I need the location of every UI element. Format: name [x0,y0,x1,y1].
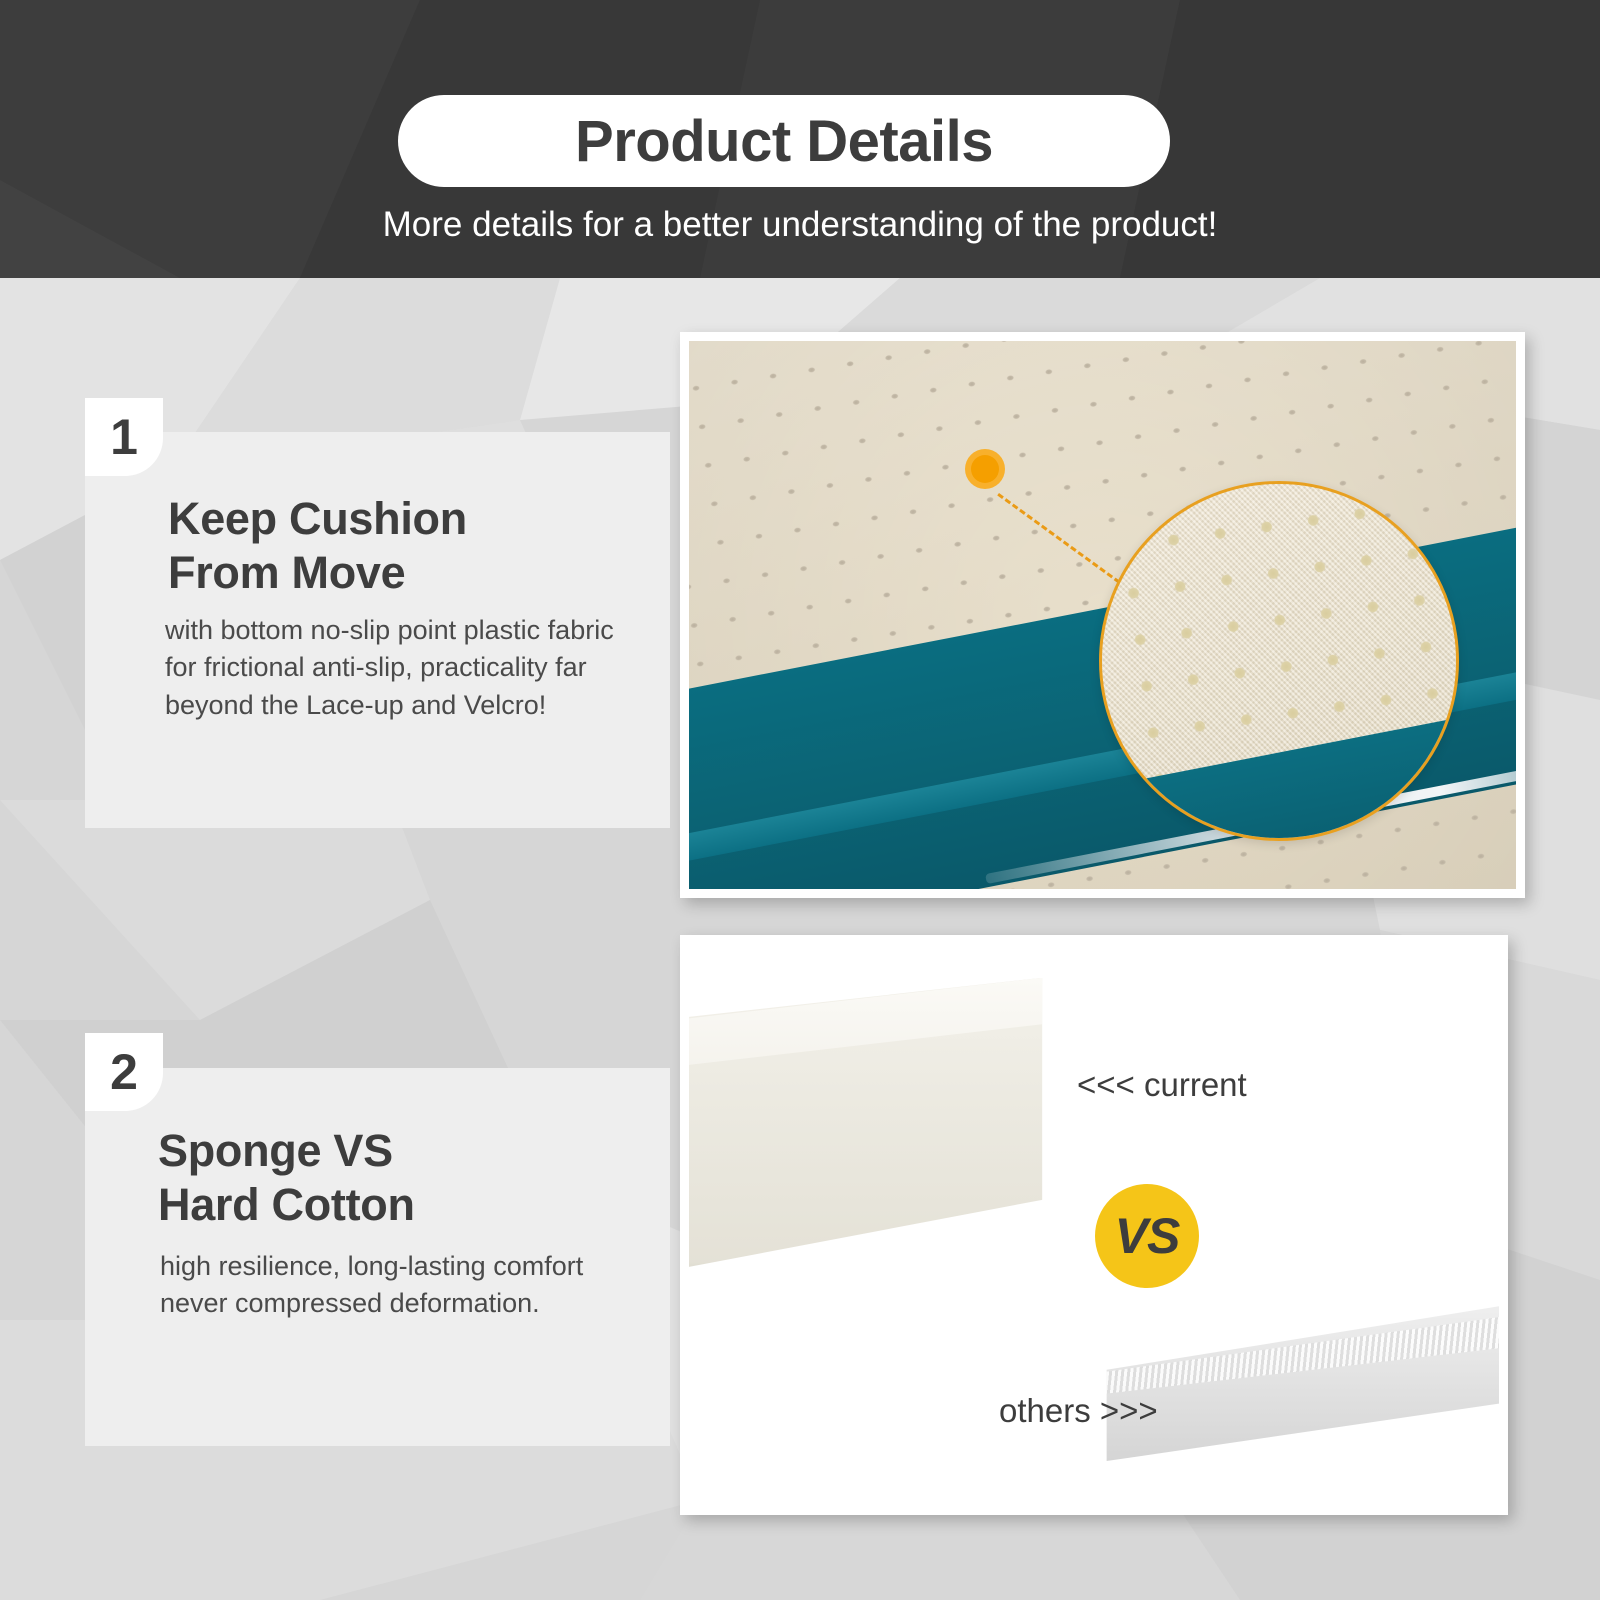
block-1-heading: Keep Cushion From Move [168,492,658,600]
page-title: Product Details [575,108,993,175]
current-product-label: <<< current [1077,1066,1247,1104]
sponge-vs-hard-cotton-photo: <<< current others >>> VS [680,935,1508,1515]
magnified-dot-detail [1099,481,1459,841]
others-product-label: others >>> [999,1392,1158,1430]
vs-badge: VS [1095,1184,1199,1288]
block-1-description: with bottom no-slip point plastic fabric… [165,612,645,724]
block-2-heading-line1: Sponge VS [158,1124,648,1178]
vs-badge-label: VS [1115,1207,1180,1265]
block-1-heading-line1: Keep Cushion [168,492,658,546]
block-2-description: high resilience, long-lasting comfort ne… [160,1248,630,1323]
block-2-heading-line2: Hard Cotton [158,1178,648,1232]
photo-1-canvas [689,341,1516,889]
page-title-pill: Product Details [398,95,1170,187]
page-subtitle: More details for a better understanding … [0,205,1600,245]
page-header: Product Details More details for a bette… [0,0,1600,278]
anti-slip-dotted-fabric-photo [680,332,1525,898]
block-2-number-badge: 2 [85,1033,163,1111]
block-1-heading-line2: From Move [168,546,658,600]
block-2-heading: Sponge VS Hard Cotton [158,1124,648,1232]
block-1-number-badge: 1 [85,398,163,476]
callout-marker-dot [965,449,1005,489]
photo-2-canvas: <<< current others >>> VS [689,944,1499,1506]
